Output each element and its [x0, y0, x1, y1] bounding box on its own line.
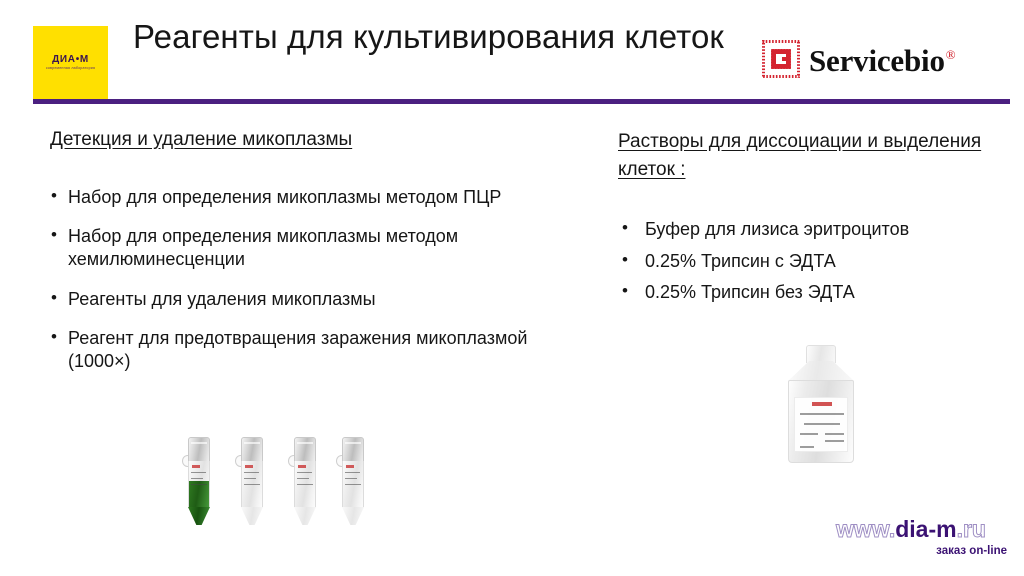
servicebio-text: Servicebio: [809, 43, 945, 78]
footer-url-prefix: www.: [836, 516, 895, 542]
diam-logo-tagline: современная лаборатория: [46, 67, 95, 71]
header-divider: [33, 99, 1010, 104]
tube-1: [186, 437, 212, 525]
diam-logo: ДИА•М современная лаборатория: [33, 26, 108, 100]
diam-logo-name: ДИА•М: [52, 55, 89, 65]
list-item: Реагент для предотвращения заражения мик…: [50, 327, 550, 372]
tube-4: [340, 437, 366, 525]
registered-mark: ®: [946, 47, 956, 62]
tube-cap: [342, 437, 364, 462]
tube-cone-contents: [188, 507, 210, 525]
reagent-bottle-image: [782, 345, 860, 465]
tube-body: [342, 461, 364, 507]
tube-cap: [241, 437, 263, 462]
tube-body: [241, 461, 263, 507]
tube-cone: [294, 507, 316, 525]
page-title: Реагенты для культивирования клеток: [133, 16, 753, 58]
left-column-heading: Детекция и удаление микоплазмы: [50, 126, 550, 154]
servicebio-logo: Servicebio®: [762, 40, 955, 78]
tube-2: [239, 437, 265, 525]
tube-cap: [188, 437, 210, 462]
footer-url-main: dia-m: [895, 516, 956, 542]
servicebio-mark-icon: [762, 40, 800, 78]
footer-url: www.dia-m.ru: [836, 518, 1011, 541]
bottle-label-logo-icon: [812, 402, 832, 406]
footer-tagline: заказ on-line: [836, 545, 1011, 557]
tube-cone: [342, 507, 364, 525]
tube-contents: [189, 481, 209, 507]
bottle-label: [794, 397, 848, 452]
list-item: Набор для определения микоплазмы методом…: [50, 225, 550, 270]
left-column-bullet-list: Набор для определения микоплазмы методом…: [50, 186, 550, 373]
tube-cone: [188, 507, 210, 525]
bottle-cap: [806, 345, 836, 363]
servicebio-wordmark: Servicebio®: [809, 45, 955, 76]
right-column-bullet-list: Буфер для лизиса эритроцитов 0.25% Трипс…: [618, 217, 1010, 306]
left-column: Детекция и удаление микоплазмы Набор для…: [50, 126, 550, 390]
dia-m-footer-logo[interactable]: www.dia-m.ru заказ on-line: [836, 518, 1011, 557]
tube-body: [294, 461, 316, 507]
tube-cone: [241, 507, 263, 525]
list-item: Реагенты для удаления микоплазмы: [50, 288, 550, 311]
tube-cap: [294, 437, 316, 462]
microcentrifuge-tubes-image: [186, 437, 366, 527]
list-item: 0.25% Трипсин без ЭДТА: [618, 280, 1010, 306]
list-item: Буфер для лизиса эритроцитов: [618, 217, 1010, 243]
right-column: Растворы для диссоциации и выделения кле…: [618, 128, 1010, 312]
right-column-heading: Растворы для диссоциации и выделения кле…: [618, 128, 1010, 183]
list-item: Набор для определения микоплазмы методом…: [50, 186, 550, 209]
list-item: 0.25% Трипсин с ЭДТА: [618, 249, 1010, 275]
bottle-shoulder: [788, 361, 854, 381]
tube-body: [188, 461, 210, 507]
tube-3: [292, 437, 318, 525]
footer-url-suffix: .ru: [957, 516, 986, 542]
slide-canvas: ДИА•М современная лаборатория Реагенты д…: [0, 0, 1024, 576]
